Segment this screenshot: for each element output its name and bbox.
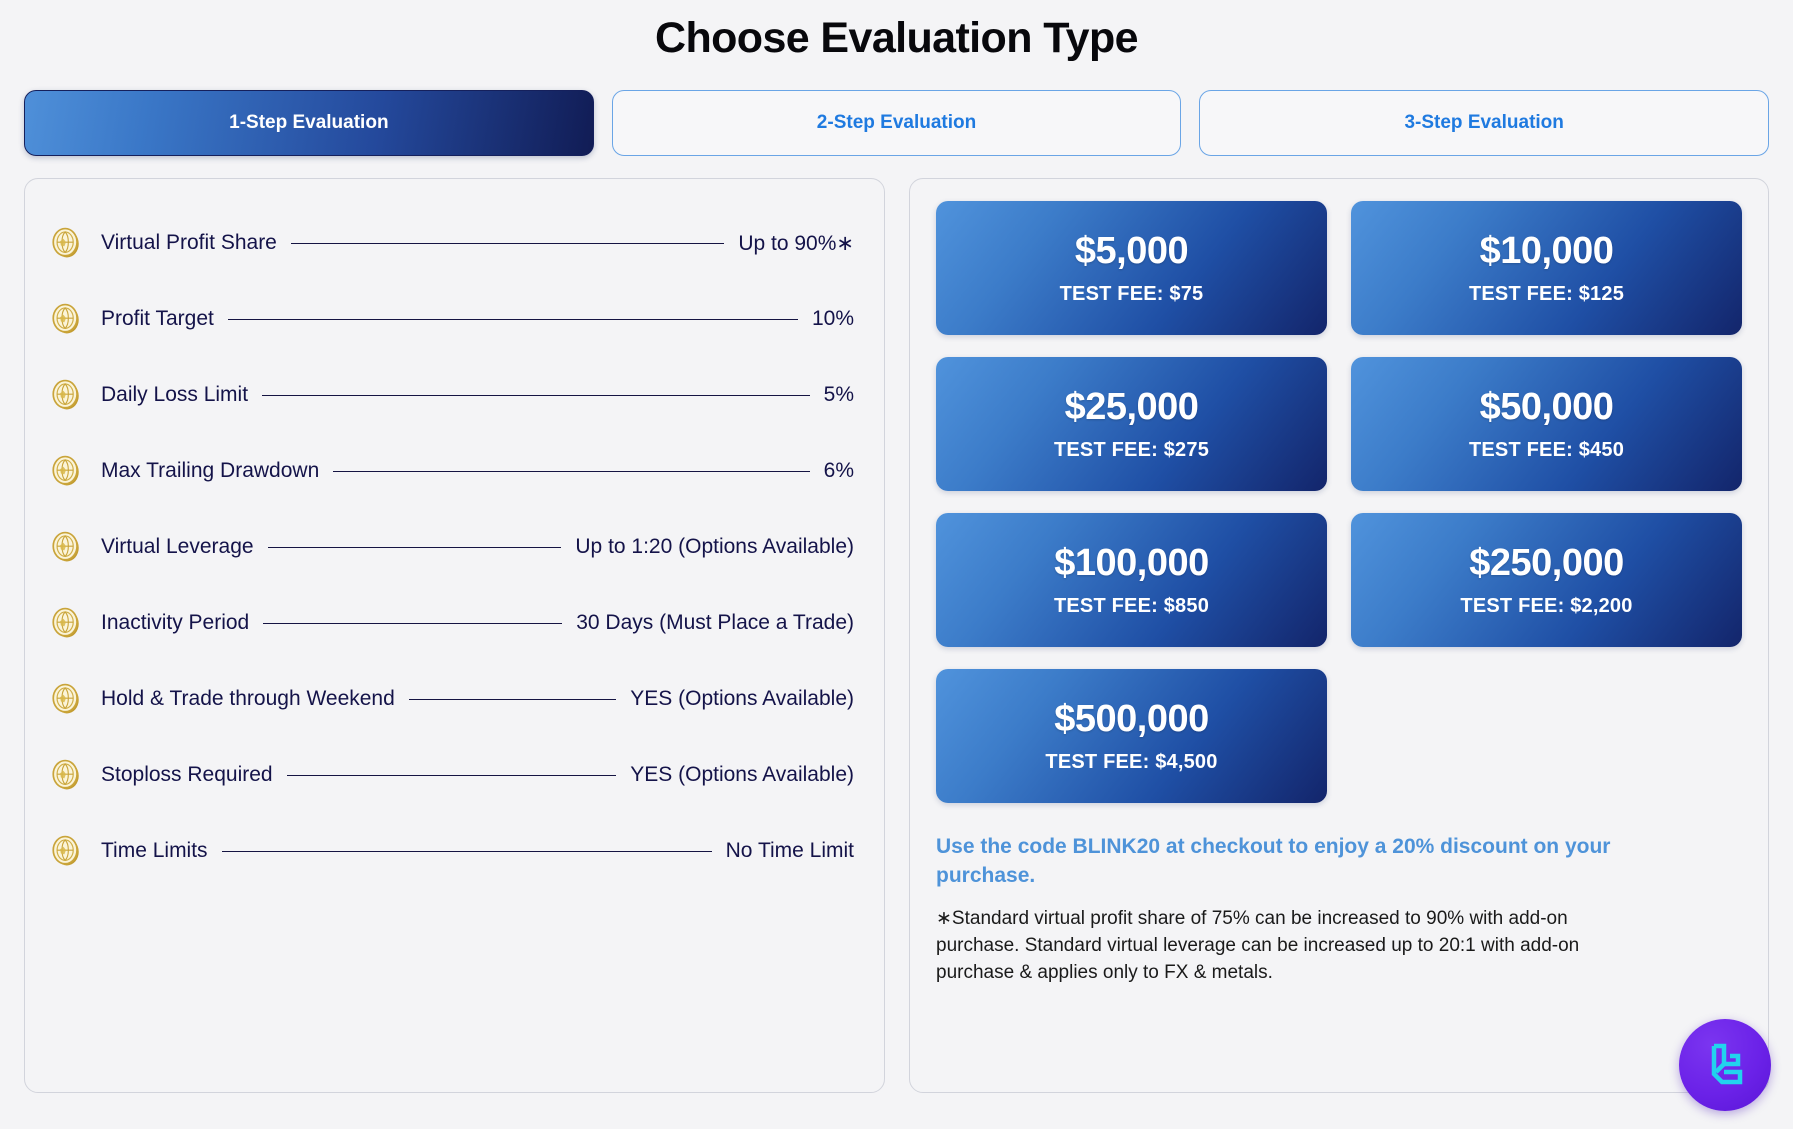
lc-monogram-logo-icon [1694,1034,1756,1096]
tab-3-step-evaluation[interactable]: 3-Step Evaluation [1199,90,1769,156]
spec-row-hold-trade-weekend: Hold & Trade through Weekend YES (Option… [49,661,854,737]
spec-value: Up to 90%∗ [738,231,854,256]
spec-leader-line [263,623,562,624]
account-size-grid: $5,000 TEST FEE: $75 $10,000 TEST FEE: $… [936,201,1742,803]
tab-label: 3-Step Evaluation [1404,112,1563,134]
spec-leader-line [222,851,712,852]
spec-row-max-trailing-drawdown: Max Trailing Drawdown 6% [49,433,854,509]
spec-value: 30 Days (Must Place a Trade) [576,611,854,635]
spec-label: Inactivity Period [101,611,249,635]
spec-label: Hold & Trade through Weekend [101,687,395,711]
price-card-50000[interactable]: $50,000 TEST FEE: $450 [1351,357,1742,491]
promo-code-text: Use the code BLINK20 at checkout to enjo… [936,833,1676,890]
price-card-100000[interactable]: $100,000 TEST FEE: $850 [936,513,1327,647]
price-fee: TEST FEE: $2,200 [1460,595,1632,618]
spec-label: Profit Target [101,307,214,331]
price-fee: TEST FEE: $4,500 [1045,751,1217,774]
spec-label: Max Trailing Drawdown [101,459,319,483]
price-amount: $250,000 [1469,542,1624,585]
price-card-10000[interactable]: $10,000 TEST FEE: $125 [1351,201,1742,335]
spec-leader-line [333,471,809,472]
footnote-text: ∗Standard virtual profit share of 75% ca… [936,906,1646,987]
spec-value: 10% [812,307,854,331]
main-content: Virtual Profit Share Up to 90%∗ Profit T… [0,156,1793,1111]
globe-coin-icon [49,454,83,488]
tab-label: 1-Step Evaluation [229,112,388,134]
chat-widget-button[interactable] [1679,1019,1771,1111]
account-size-panel: $5,000 TEST FEE: $75 $10,000 TEST FEE: $… [909,178,1769,1093]
spec-leader-line [262,395,810,396]
evaluation-specs-panel: Virtual Profit Share Up to 90%∗ Profit T… [24,178,885,1093]
globe-coin-icon [49,606,83,640]
spec-label: Virtual Profit Share [101,231,277,255]
spec-row-time-limits: Time Limits No Time Limit [49,813,854,889]
spec-leader-line [268,547,562,548]
globe-coin-icon [49,530,83,564]
globe-coin-icon [49,302,83,336]
spec-leader-line [287,775,617,776]
spec-leader-line [291,243,724,244]
spec-label: Daily Loss Limit [101,383,248,407]
spec-label: Stoploss Required [101,763,273,787]
price-amount: $500,000 [1054,698,1209,741]
price-amount: $50,000 [1480,386,1614,429]
globe-coin-icon [49,834,83,868]
spec-value: Up to 1:20 (Options Available) [575,535,854,559]
price-amount: $5,000 [1075,230,1188,273]
price-fee: TEST FEE: $125 [1469,283,1624,306]
price-card-250000[interactable]: $250,000 TEST FEE: $2,200 [1351,513,1742,647]
evaluation-type-page: Choose Evaluation Type 1-Step Evaluation… [0,0,1793,1129]
price-fee: TEST FEE: $75 [1060,283,1204,306]
spec-label: Virtual Leverage [101,535,254,559]
price-amount: $25,000 [1065,386,1199,429]
spec-row-stoploss-required: Stoploss Required YES (Options Available… [49,737,854,813]
spec-leader-line [409,699,616,700]
price-card-5000[interactable]: $5,000 TEST FEE: $75 [936,201,1327,335]
price-amount: $10,000 [1480,230,1614,273]
spec-value: No Time Limit [726,839,854,863]
tab-label: 2-Step Evaluation [817,112,976,134]
tab-2-step-evaluation[interactable]: 2-Step Evaluation [612,90,1182,156]
spec-value: YES (Options Available) [630,687,854,711]
globe-coin-icon [49,758,83,792]
spec-row-daily-loss-limit: Daily Loss Limit 5% [49,357,854,433]
spec-row-virtual-leverage: Virtual Leverage Up to 1:20 (Options Ava… [49,509,854,585]
spec-value: 5% [824,383,854,407]
tab-1-step-evaluation[interactable]: 1-Step Evaluation [24,90,594,156]
price-fee: TEST FEE: $450 [1469,439,1624,462]
price-card-25000[interactable]: $25,000 TEST FEE: $275 [936,357,1327,491]
evaluation-type-tabs: 1-Step Evaluation 2-Step Evaluation 3-St… [0,68,1793,156]
spec-value: YES (Options Available) [630,763,854,787]
price-amount: $100,000 [1054,542,1209,585]
price-fee: TEST FEE: $850 [1054,595,1209,618]
globe-coin-icon [49,226,83,260]
spec-row-inactivity-period: Inactivity Period 30 Days (Must Place a … [49,585,854,661]
spec-leader-line [228,319,798,320]
page-title: Choose Evaluation Type [0,0,1793,68]
spec-row-profit-target: Profit Target 10% [49,281,854,357]
spec-value: 6% [824,459,854,483]
globe-coin-icon [49,378,83,412]
price-fee: TEST FEE: $275 [1054,439,1209,462]
globe-coin-icon [49,682,83,716]
spec-row-virtual-profit-share: Virtual Profit Share Up to 90%∗ [49,205,854,281]
spec-label: Time Limits [101,839,208,863]
price-card-500000[interactable]: $500,000 TEST FEE: $4,500 [936,669,1327,803]
